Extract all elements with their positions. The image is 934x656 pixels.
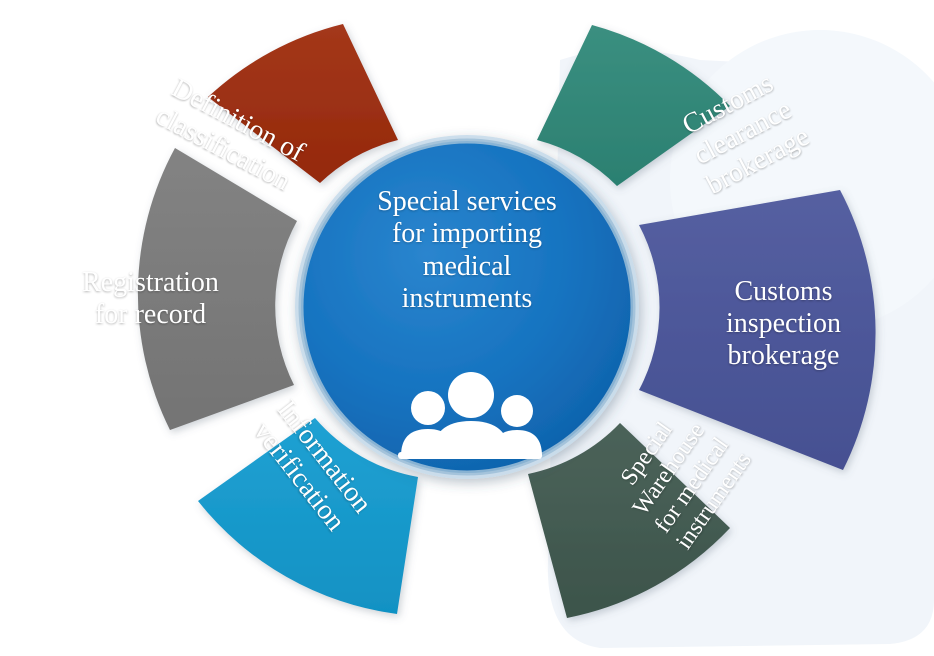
diagram-canvas: Special services for importing medical i… bbox=[0, 0, 934, 656]
hub-label: Special services for importing medical i… bbox=[327, 186, 607, 316]
segment-definition-of-classification[interactable] bbox=[208, 24, 398, 183]
radial-diagram-svg bbox=[0, 0, 934, 656]
segment-registration-for-record[interactable] bbox=[138, 148, 297, 430]
